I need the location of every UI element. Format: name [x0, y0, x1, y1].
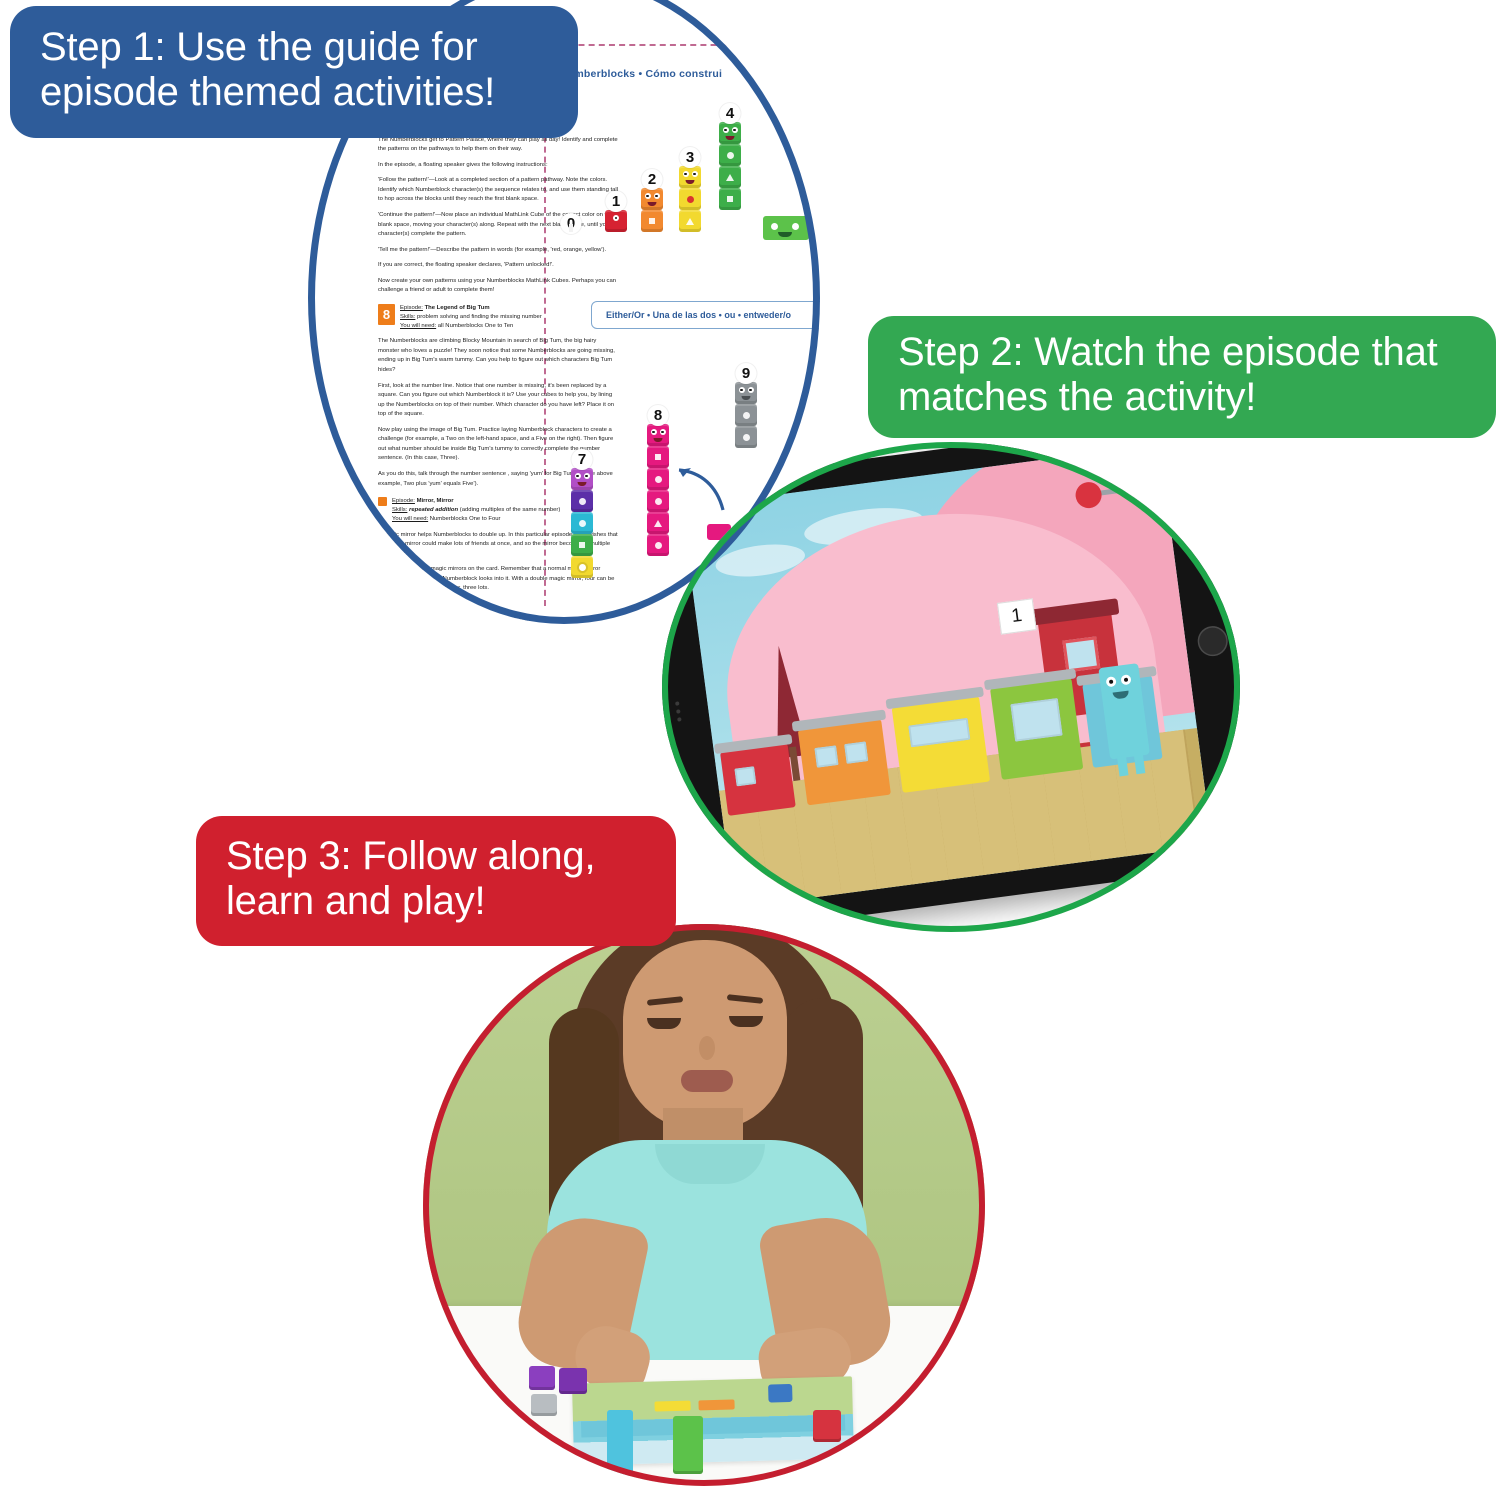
- train-wagon-orange: [798, 719, 891, 805]
- either-or-banner: Either/Or • Una de las dos • ou • entwed…: [591, 301, 820, 329]
- numberblock-9: 9: [735, 382, 757, 448]
- step-3-line-2: learn and play!: [226, 879, 595, 924]
- mathlink-cube-purple: [559, 1368, 587, 1394]
- episode-number-badge: [378, 497, 387, 506]
- numberblock-3: 3: [679, 166, 701, 232]
- step-3-image-circle: [423, 924, 985, 1486]
- step-2-line-1: Step 2: Watch the episode that: [898, 330, 1438, 375]
- card-token: [654, 1401, 690, 1412]
- step-2-image-circle: 1: [662, 442, 1240, 932]
- tablet-screen[interactable]: 1: [682, 444, 1213, 907]
- train-wagon-red: [720, 744, 796, 816]
- step-3-line-1: Step 3: Follow along,: [226, 834, 595, 879]
- mathlink-cube-tower-green: [673, 1416, 703, 1474]
- child-photo: [423, 924, 985, 1486]
- step-2-line-2: matches the activity!: [898, 375, 1438, 420]
- card-token: [698, 1399, 734, 1410]
- mathlink-cube-purple: [529, 1366, 555, 1390]
- tablet-device: 1: [662, 442, 1240, 932]
- step-2-badge: Step 2: Watch the episode that matches t…: [868, 316, 1496, 438]
- mathlink-cube-tower-cyan[interactable]: [607, 1410, 633, 1476]
- build-diagram: 1 ↓ → →: [811, 100, 820, 196]
- train-wagon-green: [990, 678, 1083, 780]
- step-1-line-1: Step 1: Use the guide for: [40, 25, 495, 70]
- tablet-home-button[interactable]: [1196, 624, 1230, 658]
- step-1-line-2: episode themed activities!: [40, 70, 495, 115]
- card-character: [768, 1384, 792, 1403]
- child-face: [623, 940, 787, 1130]
- numberblock-2: 2: [641, 188, 663, 232]
- step-1-badge: Step 1: Use the guide for episode themed…: [10, 6, 578, 138]
- platform-number-sign: 1: [997, 598, 1037, 634]
- mathlink-cube-red: [813, 1410, 841, 1442]
- train-wagon-yellow: [892, 696, 990, 793]
- numberblock-1: 1: [605, 210, 627, 232]
- poster-canvas: play with the biggest Numberblocks in pl…: [0, 0, 1500, 1421]
- numberblock-5: [763, 216, 809, 240]
- mathlink-cube-grey: [531, 1394, 557, 1416]
- step-3-badge: Step 3: Follow along, learn and play!: [196, 816, 676, 946]
- episode-number-badge: 8: [378, 304, 395, 325]
- numberblock-7: 7: [571, 468, 593, 578]
- numberblock-4: 4: [719, 122, 741, 210]
- tablet-sensor-dots: [675, 697, 683, 725]
- child-figure: [531, 924, 881, 1338]
